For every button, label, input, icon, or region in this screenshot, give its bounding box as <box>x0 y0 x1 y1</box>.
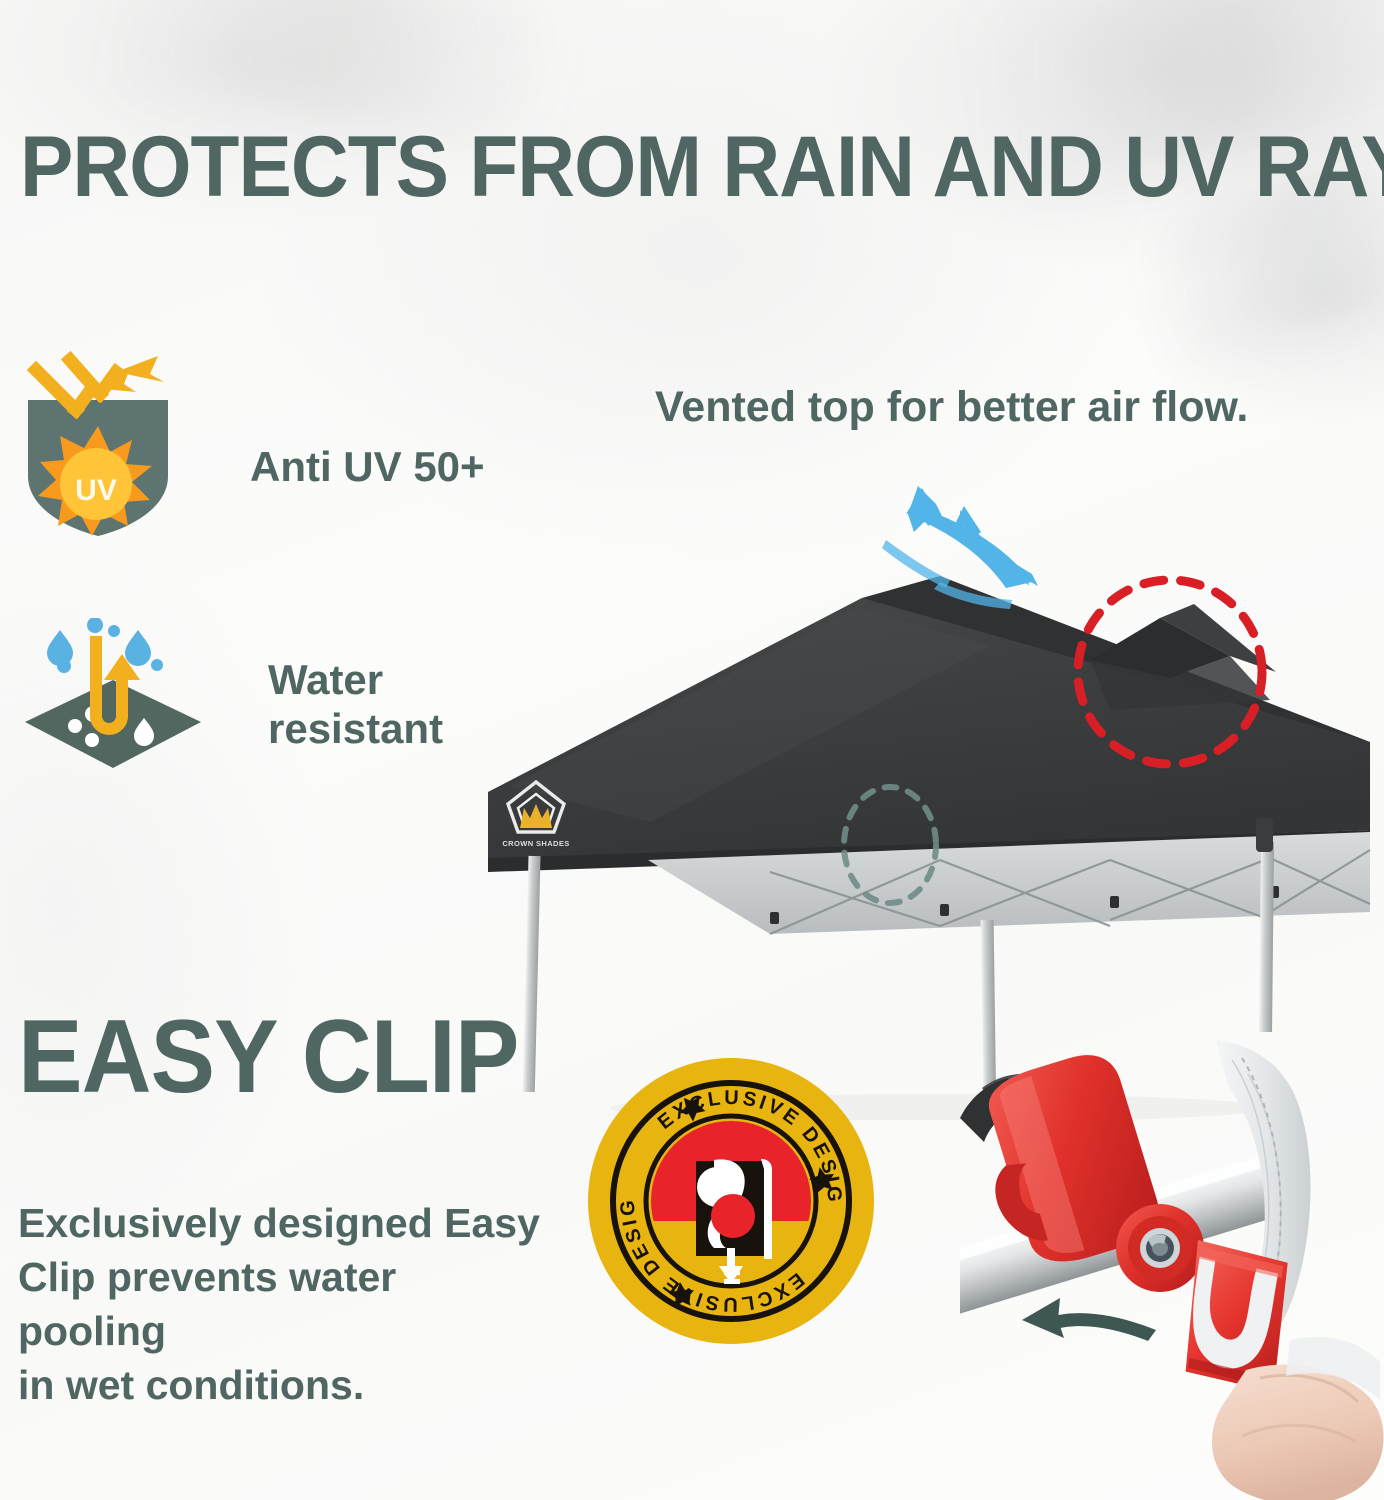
exclusive-design-badge-icon: EXCLUSIVE DESIGN EXCLUSIVE DESIGN <box>586 1056 876 1346</box>
easy-clip-title: EASY CLIP <box>18 1005 518 1109</box>
easy-clip-description-line-3: in wet conditions. <box>18 1358 548 1412</box>
feature-label-anti-uv: Anti UV 50+ <box>250 442 485 491</box>
water-resistant-icon <box>18 618 208 778</box>
easy-clip-hardware-photo <box>960 1040 1384 1500</box>
feature-label-water-line1: Water <box>268 655 443 704</box>
easy-clip-description-line-1: Exclusively designed Easy <box>18 1196 548 1250</box>
easy-clip-description-line-2: Clip prevents water pooling <box>18 1250 548 1358</box>
airflow-arrows-icon <box>880 470 1200 690</box>
curved-arrow-icon <box>1022 1298 1156 1341</box>
feature-label-water-resistant: Water resistant <box>268 655 443 753</box>
uv-shield-icon: UV <box>18 348 178 538</box>
infographic-page: PROTECTS FROM RAIN AND UV RAYS <box>0 0 1384 1500</box>
feature-label-water-line2: resistant <box>268 704 443 753</box>
easy-clip-description: Exclusively designed Easy Clip prevents … <box>18 1196 548 1412</box>
page-title: PROTECTS FROM RAIN AND UV RAYS <box>20 124 1384 210</box>
crown-shades-logo-text: CROWN SHADES <box>502 839 569 848</box>
uv-icon-text: UV <box>75 474 117 507</box>
vented-top-label: Vented top for better air flow. <box>655 383 1248 432</box>
